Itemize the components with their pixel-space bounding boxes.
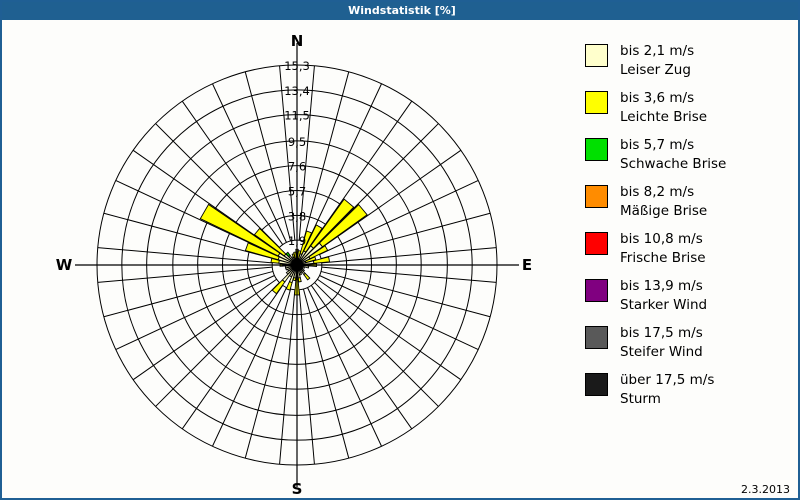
legend-item: bis 8,2 m/s Mäßige Brise bbox=[585, 183, 790, 225]
legend-name-2: Schwache Brise bbox=[620, 155, 726, 174]
legend-speed-7: über 17,5 m/s bbox=[620, 371, 714, 390]
legend-name-6: Steifer Wind bbox=[620, 343, 703, 362]
wind-speed-legend: bis 2,1 m/s Leiser Zug bis 3,6 m/s Leich… bbox=[585, 42, 790, 418]
compass-label-west: W bbox=[44, 256, 84, 274]
wind-statistics-window: Windstatistik [%] 1,93,85,77,69,511,513,… bbox=[0, 0, 800, 500]
legend-swatch-4 bbox=[585, 232, 608, 255]
compass-label-south: S bbox=[277, 480, 317, 498]
legend-swatch-5 bbox=[585, 279, 608, 302]
legend-swatch-6 bbox=[585, 326, 608, 349]
window-titlebar: Windstatistik [%] bbox=[2, 2, 800, 20]
legend-name-3: Mäßige Brise bbox=[620, 202, 707, 221]
legend-item: bis 3,6 m/s Leichte Brise bbox=[585, 89, 790, 131]
compass-label-north: N bbox=[277, 32, 317, 50]
legend-swatch-2 bbox=[585, 138, 608, 161]
svg-text:11,5: 11,5 bbox=[284, 109, 310, 123]
legend-swatch-7 bbox=[585, 373, 608, 396]
legend-item: bis 17,5 m/s Steifer Wind bbox=[585, 324, 790, 366]
legend-name-7: Sturm bbox=[620, 390, 714, 409]
legend-speed-4: bis 10,8 m/s bbox=[620, 230, 706, 249]
legend-item: bis 10,8 m/s Frische Brise bbox=[585, 230, 790, 272]
legend-speed-0: bis 2,1 m/s bbox=[620, 42, 694, 61]
windrose-petals bbox=[200, 199, 367, 295]
legend-speed-3: bis 8,2 m/s bbox=[620, 183, 707, 202]
svg-text:3,8: 3,8 bbox=[288, 209, 306, 223]
legend-speed-1: bis 3,6 m/s bbox=[620, 89, 707, 108]
legend-item: bis 5,7 m/s Schwache Brise bbox=[585, 136, 790, 178]
legend-name-5: Starker Wind bbox=[620, 296, 707, 315]
legend-item: bis 13,9 m/s Starker Wind bbox=[585, 277, 790, 319]
svg-text:5,7: 5,7 bbox=[288, 184, 306, 198]
legend-item: über 17,5 m/s Sturm bbox=[585, 371, 790, 413]
legend-name-4: Frische Brise bbox=[620, 249, 706, 268]
legend-item: bis 2,1 m/s Leiser Zug bbox=[585, 42, 790, 84]
svg-text:7,6: 7,6 bbox=[288, 160, 306, 174]
legend-swatch-3 bbox=[585, 185, 608, 208]
legend-speed-5: bis 13,9 m/s bbox=[620, 277, 707, 296]
windrose-chart: 1,93,85,77,69,511,513,415,3 bbox=[2, 20, 567, 500]
legend-swatch-0 bbox=[585, 44, 608, 67]
svg-text:1,9: 1,9 bbox=[288, 234, 306, 248]
legend-swatch-1 bbox=[585, 91, 608, 114]
legend-speed-6: bis 17,5 m/s bbox=[620, 324, 703, 343]
legend-name-1: Leichte Brise bbox=[620, 108, 707, 127]
svg-text:9,5: 9,5 bbox=[288, 135, 306, 149]
date-stamp: 2.3.2013 bbox=[741, 483, 790, 496]
compass-label-east: E bbox=[507, 256, 547, 274]
svg-text:13,4: 13,4 bbox=[284, 84, 310, 98]
windrose-plot-area: 1,93,85,77,69,511,513,415,3 N E S W bbox=[2, 20, 567, 500]
svg-text:15,3: 15,3 bbox=[284, 59, 310, 73]
legend-speed-2: bis 5,7 m/s bbox=[620, 136, 726, 155]
legend-name-0: Leiser Zug bbox=[620, 61, 694, 80]
